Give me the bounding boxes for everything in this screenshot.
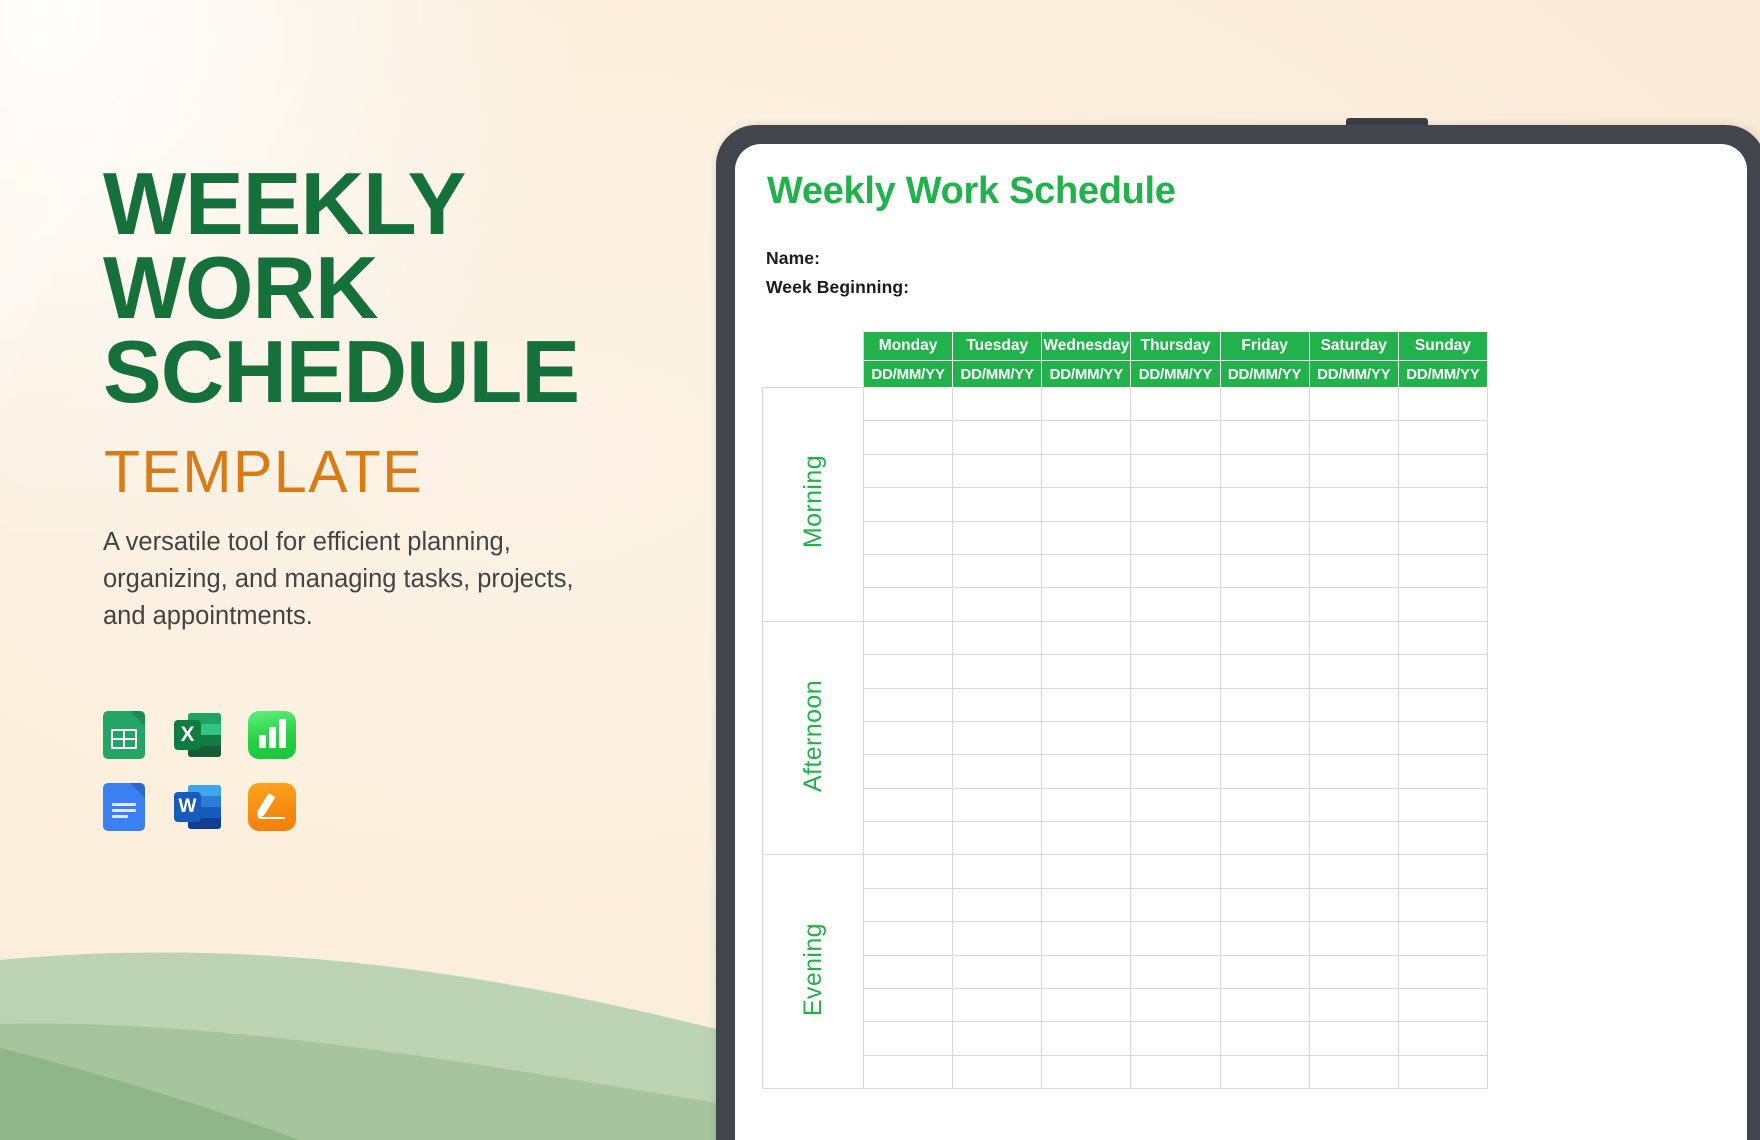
schedule-cell[interactable] — [1220, 488, 1309, 521]
schedule-cell[interactable] — [953, 388, 1042, 421]
schedule-cell[interactable] — [864, 488, 953, 521]
schedule-cell[interactable] — [1131, 989, 1220, 1022]
schedule-cell[interactable] — [1042, 989, 1131, 1022]
period-label-morning: Morning — [763, 388, 864, 622]
table-header-date-friday: DD/MM/YY — [1220, 361, 1309, 388]
schedule-cell[interactable] — [1220, 721, 1309, 754]
table-header-date-sunday: DD/MM/YY — [1398, 361, 1487, 388]
schedule-cell[interactable] — [1131, 521, 1220, 554]
format-icon-row-documents: W — [100, 783, 296, 831]
schedule-cell[interactable] — [864, 788, 953, 821]
numbers-body — [248, 711, 296, 759]
document-meta-fields: Name: Week Beginning: — [766, 248, 909, 306]
microsoft-excel-icon[interactable]: X — [174, 711, 222, 759]
schedule-cell[interactable] — [1131, 755, 1220, 788]
table-row — [763, 721, 1488, 754]
table-row — [763, 588, 1488, 621]
schedule-cell[interactable] — [1220, 788, 1309, 821]
schedule-cell[interactable] — [1042, 721, 1131, 754]
table-row — [763, 788, 1488, 821]
word-letter: W — [174, 792, 201, 822]
schedule-cell[interactable] — [1042, 521, 1131, 554]
schedule-cell[interactable] — [1131, 955, 1220, 988]
schedule-cell[interactable] — [1309, 388, 1398, 421]
schedule-cell[interactable] — [953, 955, 1042, 988]
table-row — [763, 955, 1488, 988]
schedule-cell[interactable] — [1398, 822, 1487, 855]
microsoft-word-icon[interactable]: W — [174, 783, 222, 831]
schedule-cell[interactable] — [864, 421, 953, 454]
schedule-cell[interactable] — [953, 521, 1042, 554]
docs-line-1 — [112, 803, 136, 806]
schedule-cell[interactable] — [1398, 755, 1487, 788]
schedule-cell[interactable] — [1309, 922, 1398, 955]
period-label-text: Morning — [799, 455, 828, 548]
schedule-cell[interactable] — [1309, 554, 1398, 587]
document-title: Weekly Work Schedule — [767, 170, 1176, 213]
schedule-cell[interactable] — [1131, 454, 1220, 487]
schedule-cell[interactable] — [1398, 388, 1487, 421]
table-row — [763, 688, 1488, 721]
table-corner-cell — [763, 332, 864, 388]
schedule-cell[interactable] — [1042, 388, 1131, 421]
schedule-cell[interactable] — [1309, 521, 1398, 554]
table-row — [763, 521, 1488, 554]
schedule-cell[interactable] — [1309, 755, 1398, 788]
schedule-cell[interactable] — [1220, 521, 1309, 554]
pages-pen-glyph — [254, 793, 275, 820]
table-row — [763, 554, 1488, 587]
schedule-cell[interactable] — [1042, 788, 1131, 821]
schedule-cell[interactable] — [864, 621, 953, 654]
schedule-cell[interactable] — [1131, 588, 1220, 621]
schedule-cell[interactable] — [1220, 955, 1309, 988]
schedule-cell[interactable] — [1398, 922, 1487, 955]
table-header-date-tuesday: DD/MM/YY — [953, 361, 1042, 388]
table-row — [763, 755, 1488, 788]
excel-letter: X — [174, 720, 201, 750]
schedule-cell[interactable] — [1220, 888, 1309, 921]
schedule-cell[interactable] — [1309, 621, 1398, 654]
schedule-cell[interactable] — [1131, 655, 1220, 688]
schedule-cell[interactable] — [864, 454, 953, 487]
schedule-cell[interactable] — [864, 554, 953, 587]
schedule-cell[interactable] — [1398, 655, 1487, 688]
table-row: Afternoon — [763, 621, 1488, 654]
google-docs-icon[interactable] — [100, 783, 148, 831]
schedule-cell[interactable] — [864, 388, 953, 421]
schedule-cell[interactable] — [1309, 788, 1398, 821]
schedule-cell[interactable] — [1131, 1022, 1220, 1055]
sheets-grid-glyph — [111, 729, 137, 749]
schedule-cell[interactable] — [1131, 554, 1220, 587]
tablet-frame: Weekly Work Schedule Name: Week Beginnin… — [716, 125, 1760, 1140]
schedule-cell[interactable] — [1131, 1055, 1220, 1088]
docs-line-2 — [112, 809, 136, 812]
schedule-cell[interactable] — [1131, 721, 1220, 754]
table-header-days-row: MondayTuesdayWednesdayThursdayFridaySatu… — [763, 332, 1488, 361]
schedule-cell[interactable] — [1309, 721, 1398, 754]
period-label-text: Afternoon — [799, 680, 828, 792]
schedule-cell[interactable] — [1398, 989, 1487, 1022]
schedule-cell[interactable] — [1220, 1055, 1309, 1088]
schedule-cell[interactable] — [953, 1055, 1042, 1088]
schedule-cell[interactable] — [1398, 1022, 1487, 1055]
table-header-day-tuesday: Tuesday — [953, 332, 1042, 361]
schedule-cell[interactable] — [864, 855, 953, 888]
headline-line-3: SCHEDULE — [103, 330, 579, 414]
schedule-cell[interactable] — [1131, 922, 1220, 955]
schedule-cell[interactable] — [1309, 454, 1398, 487]
schedule-cell[interactable] — [1309, 1022, 1398, 1055]
schedule-cell[interactable] — [1309, 888, 1398, 921]
table-row — [763, 1022, 1488, 1055]
table-header-day-wednesday: Wednesday — [1042, 332, 1131, 361]
schedule-cell[interactable] — [1398, 855, 1487, 888]
period-label-afternoon: Afternoon — [763, 621, 864, 855]
schedule-cell[interactable] — [953, 655, 1042, 688]
pages-body — [248, 783, 296, 831]
schedule-cell[interactable] — [1042, 588, 1131, 621]
pages-rule-glyph — [259, 817, 285, 819]
schedule-cell[interactable] — [1131, 788, 1220, 821]
schedule-cell[interactable] — [1042, 621, 1131, 654]
schedule-cell[interactable] — [864, 922, 953, 955]
period-label-evening: Evening — [763, 855, 864, 1089]
schedule-cell[interactable] — [1309, 488, 1398, 521]
google-sheets-icon[interactable] — [100, 711, 148, 759]
schedule-cell[interactable] — [1042, 855, 1131, 888]
table-row — [763, 922, 1488, 955]
schedule-cell[interactable] — [1042, 922, 1131, 955]
schedule-cell[interactable] — [1131, 855, 1220, 888]
table-header-date-saturday: DD/MM/YY — [1309, 361, 1398, 388]
table-header-day-monday: Monday — [864, 332, 953, 361]
schedule-cell[interactable] — [1309, 822, 1398, 855]
period-label-text: Evening — [799, 923, 828, 1016]
schedule-cell[interactable] — [1398, 588, 1487, 621]
schedule-cell[interactable] — [953, 855, 1042, 888]
schedule-cell[interactable] — [1131, 688, 1220, 721]
schedule-cell[interactable] — [1398, 721, 1487, 754]
schedule-cell[interactable] — [953, 421, 1042, 454]
schedule-cell[interactable] — [1042, 1055, 1131, 1088]
schedule-cell[interactable] — [864, 721, 953, 754]
schedule-cell[interactable] — [1220, 454, 1309, 487]
subtitle: TEMPLATE — [104, 443, 423, 502]
apple-pages-icon[interactable] — [248, 783, 296, 831]
table-header-day-thursday: Thursday — [1131, 332, 1220, 361]
schedule-cell[interactable] — [864, 655, 953, 688]
schedule-cell[interactable] — [1398, 788, 1487, 821]
schedule-cell[interactable] — [1220, 688, 1309, 721]
schedule-cell[interactable] — [953, 1022, 1042, 1055]
schedule-cell[interactable] — [1042, 554, 1131, 587]
schedule-cell[interactable] — [1309, 855, 1398, 888]
schedule-cell[interactable] — [1131, 388, 1220, 421]
schedule-cell[interactable] — [1309, 1055, 1398, 1088]
schedule-cell[interactable] — [1220, 855, 1309, 888]
schedule-cell[interactable] — [1220, 755, 1309, 788]
table-header-date-wednesday: DD/MM/YY — [1042, 361, 1131, 388]
table-row — [763, 1055, 1488, 1088]
schedule-cell[interactable] — [1220, 655, 1309, 688]
schedule-cell[interactable] — [864, 755, 953, 788]
schedule-cell[interactable] — [1398, 1055, 1487, 1088]
schedule-cell[interactable] — [1220, 588, 1309, 621]
table-row — [763, 421, 1488, 454]
table-row: Morning — [763, 388, 1488, 421]
schedule-cell[interactable] — [953, 721, 1042, 754]
table-row — [763, 454, 1488, 487]
schedule-cell[interactable] — [1042, 655, 1131, 688]
table-header-dates-row: DD/MM/YYDD/MM/YYDD/MM/YYDD/MM/YYDD/MM/YY… — [763, 361, 1488, 388]
schedule-cell[interactable] — [1131, 488, 1220, 521]
table-row — [763, 655, 1488, 688]
schedule-cell[interactable] — [1042, 955, 1131, 988]
schedule-cell[interactable] — [864, 888, 953, 921]
schedule-cell[interactable] — [1042, 822, 1131, 855]
numbers-bar-1 — [259, 735, 266, 748]
table-row: Evening — [763, 855, 1488, 888]
description-text: A versatile tool for efficient planning,… — [103, 524, 623, 635]
schedule-cell[interactable] — [1042, 1022, 1131, 1055]
schedule-cell[interactable] — [864, 1022, 953, 1055]
table-body: MorningAfternoonEvening — [763, 388, 1488, 1089]
schedule-cell[interactable] — [864, 955, 953, 988]
table-header-date-monday: DD/MM/YY — [864, 361, 953, 388]
schedule-cell[interactable] — [864, 588, 953, 621]
schedule-cell[interactable] — [1309, 989, 1398, 1022]
schedule-cell[interactable] — [1309, 421, 1398, 454]
schedule-cell[interactable] — [953, 488, 1042, 521]
tablet-device-mockup: Weekly Work Schedule Name: Week Beginnin… — [716, 118, 1760, 1140]
tablet-screen[interactable]: Weekly Work Schedule Name: Week Beginnin… — [735, 144, 1747, 1140]
schedule-cell[interactable] — [864, 822, 953, 855]
schedule-cell[interactable] — [953, 755, 1042, 788]
schedule-cell[interactable] — [1042, 688, 1131, 721]
schedule-cell[interactable] — [953, 688, 1042, 721]
apple-numbers-icon[interactable] — [248, 711, 296, 759]
table-row — [763, 888, 1488, 921]
schedule-cell[interactable] — [1398, 554, 1487, 587]
schedule-cell[interactable] — [1220, 554, 1309, 587]
schedule-cell[interactable] — [1042, 454, 1131, 487]
field-week-beginning-label: Week Beginning: — [766, 277, 909, 298]
schedule-cell[interactable] — [1220, 922, 1309, 955]
schedule-cell[interactable] — [1398, 888, 1487, 921]
numbers-bar-3 — [279, 719, 286, 748]
field-name-label: Name: — [766, 248, 909, 269]
schedule-cell[interactable] — [1309, 588, 1398, 621]
schedule-cell[interactable] — [953, 554, 1042, 587]
table-row — [763, 488, 1488, 521]
docs-line-3 — [112, 815, 128, 818]
schedule-cell[interactable] — [953, 922, 1042, 955]
schedule-cell[interactable] — [864, 688, 953, 721]
schedule-cell[interactable] — [1131, 888, 1220, 921]
schedule-cell[interactable] — [1309, 655, 1398, 688]
schedule-cell[interactable] — [1220, 421, 1309, 454]
schedule-cell[interactable] — [1042, 888, 1131, 921]
schedule-cell[interactable] — [1220, 388, 1309, 421]
schedule-cell[interactable] — [864, 989, 953, 1022]
headline-line-1: WEEKLY — [103, 162, 579, 246]
schedule-cell[interactable] — [953, 621, 1042, 654]
schedule-cell[interactable] — [1131, 421, 1220, 454]
schedule-cell[interactable] — [953, 989, 1042, 1022]
page-title: WEEKLY WORK SCHEDULE — [103, 162, 579, 414]
table-header-day-friday: Friday — [1220, 332, 1309, 361]
numbers-bar-2 — [269, 727, 276, 748]
schedule-cell[interactable] — [1042, 755, 1131, 788]
schedule-cell[interactable] — [1042, 421, 1131, 454]
schedule-cell[interactable] — [1398, 421, 1487, 454]
schedule-cell[interactable] — [1131, 621, 1220, 654]
table-header-date-thursday: DD/MM/YY — [1131, 361, 1220, 388]
table-header-day-saturday: Saturday — [1309, 332, 1398, 361]
headline-line-2: WORK — [103, 246, 579, 330]
schedule-cell[interactable] — [1220, 822, 1309, 855]
schedule-cell[interactable] — [953, 788, 1042, 821]
schedule-cell[interactable] — [864, 1055, 953, 1088]
schedule-cell[interactable] — [1398, 955, 1487, 988]
schedule-cell[interactable] — [1220, 1022, 1309, 1055]
weekly-schedule-table: MondayTuesdayWednesdayThursdayFridaySatu… — [762, 331, 1488, 1089]
table-row — [763, 822, 1488, 855]
schedule-cell[interactable] — [953, 588, 1042, 621]
schedule-cell[interactable] — [953, 822, 1042, 855]
schedule-cell[interactable] — [1042, 488, 1131, 521]
schedule-cell[interactable] — [1398, 488, 1487, 521]
schedule-cell[interactable] — [1398, 521, 1487, 554]
schedule-cell[interactable] — [1220, 621, 1309, 654]
table-header-day-sunday: Sunday — [1398, 332, 1487, 361]
format-icon-row-spreadsheets: X — [100, 711, 296, 759]
schedule-cell[interactable] — [1220, 989, 1309, 1022]
intro-panel: WEEKLY WORK SCHEDULE TEMPLATE A versatil… — [0, 0, 720, 1140]
schedule-cell[interactable] — [1309, 688, 1398, 721]
schedule-cell[interactable] — [1398, 688, 1487, 721]
schedule-cell[interactable] — [1398, 454, 1487, 487]
schedule-cell[interactable] — [864, 521, 953, 554]
schedule-cell[interactable] — [1309, 955, 1398, 988]
schedule-cell[interactable] — [1398, 621, 1487, 654]
table-head: MondayTuesdayWednesdayThursdayFridaySatu… — [763, 332, 1488, 388]
schedule-cell[interactable] — [953, 454, 1042, 487]
format-icon-grid: X W — [100, 711, 296, 855]
document-sheet: Weekly Work Schedule Name: Week Beginnin… — [735, 144, 1747, 1140]
schedule-cell[interactable] — [953, 888, 1042, 921]
table-row — [763, 989, 1488, 1022]
schedule-cell[interactable] — [1131, 822, 1220, 855]
